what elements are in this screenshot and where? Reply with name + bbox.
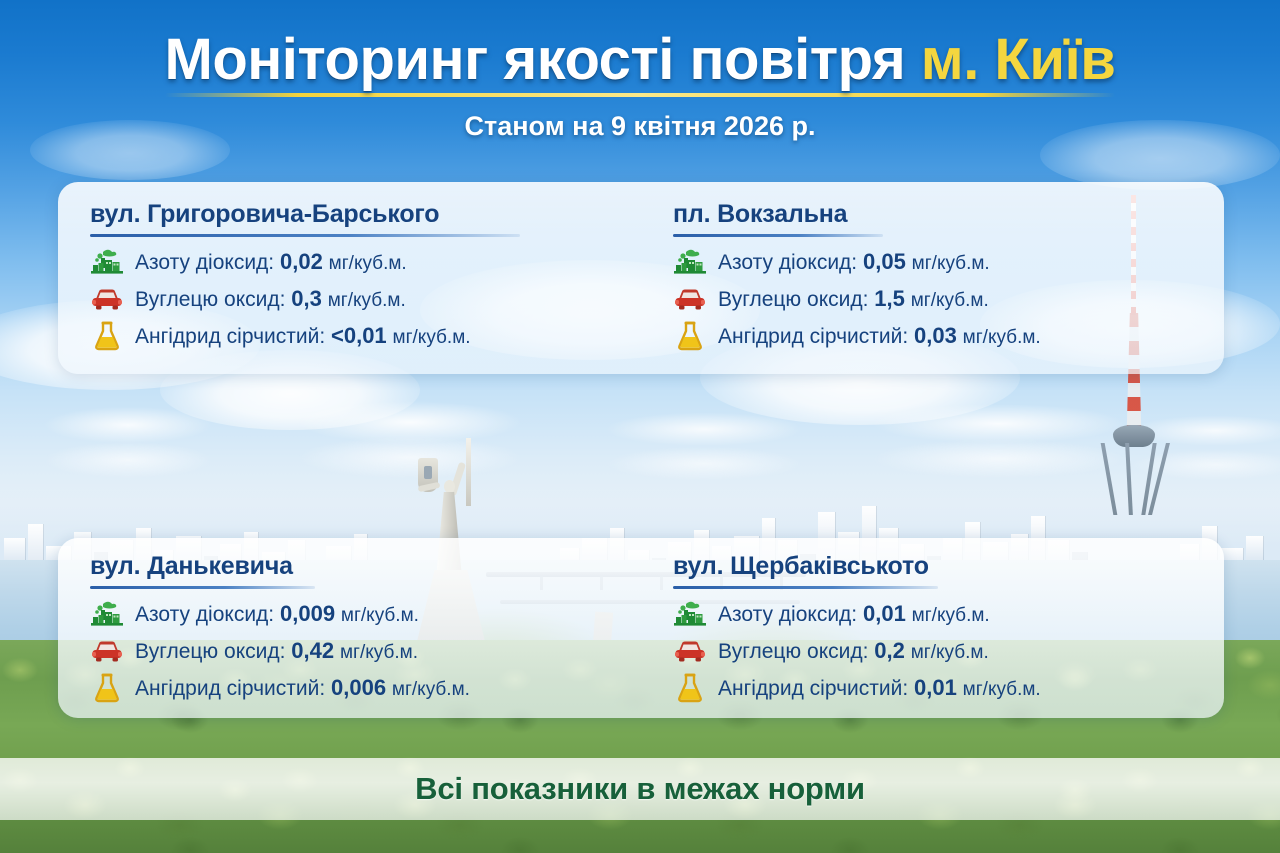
factory-icon — [673, 247, 707, 277]
metric-text: Ангідрид сірчистий: <0,01 мг/куб.м. — [135, 324, 471, 349]
metric-text: Вуглецю оксид: 0,2 мг/куб.м. — [718, 639, 989, 664]
metric-value: 0,02 — [280, 249, 323, 274]
metric-row: Вуглецю оксид: 0,2 мг/куб.м. — [673, 636, 1224, 666]
metric-label: Ангідрид сірчистий: — [718, 677, 908, 700]
station-divider — [673, 234, 883, 237]
metric-text: Вуглецю оксид: 0,3 мг/куб.м. — [135, 287, 406, 312]
poster-header: Моніторинг якості повітря м. Київ Станом… — [0, 0, 1280, 170]
metric-value: 1,5 — [874, 286, 905, 311]
metric-label: Вуглецю оксид: — [718, 640, 868, 663]
metric-value: <0,01 — [331, 323, 387, 348]
metric-row: Азоту діоксид: 0,009 мг/куб.м. — [90, 599, 641, 629]
metric-label: Азоту діоксид: — [718, 603, 857, 626]
factory-icon — [90, 247, 124, 277]
metric-value: 0,006 — [331, 675, 386, 700]
summary-banner: Всі показники в межах норми — [0, 758, 1280, 820]
metric-text: Ангідрид сірчистий: 0,01 мг/куб.м. — [718, 676, 1041, 701]
page-subtitle: Станом на 9 квітня 2026 р. — [0, 111, 1280, 142]
car-icon — [673, 284, 707, 314]
flask-icon — [673, 321, 707, 351]
metric-value: 0,01 — [914, 675, 957, 700]
metric-text: Азоту діоксид: 0,01 мг/куб.м. — [718, 602, 990, 627]
metric-unit: мг/куб.м. — [911, 642, 989, 663]
metric-row: Азоту діоксид: 0,01 мг/куб.м. — [673, 599, 1224, 629]
car-icon — [673, 636, 707, 666]
air-quality-poster: Моніторинг якості повітря м. Київ Станом… — [0, 0, 1280, 853]
metric-row: Ангідрид сірчистий: 0,006 мг/куб.м. — [90, 673, 641, 703]
factory-icon — [673, 599, 707, 629]
metric-unit: мг/куб.м. — [963, 679, 1041, 700]
summary-text: Всі показники в межах норми — [415, 771, 865, 807]
metric-row: Азоту діоксид: 0,05 мг/куб.м. — [673, 247, 1224, 277]
metric-text: Ангідрид сірчистий: 0,03 мг/куб.м. — [718, 324, 1041, 349]
station-divider — [673, 586, 938, 589]
station-card: вул. Щербаківськото — [641, 538, 1224, 718]
metric-unit: мг/куб.м. — [393, 327, 471, 348]
metric-unit: мг/куб.м. — [963, 327, 1041, 348]
metric-unit: мг/куб.м. — [341, 605, 419, 626]
metric-unit: мг/куб.м. — [912, 253, 990, 274]
metric-label: Азоту діоксид: — [718, 251, 857, 274]
metric-row: Ангідрид сірчистий: 0,03 мг/куб.м. — [673, 321, 1224, 351]
flask-icon — [90, 321, 124, 351]
car-icon — [90, 284, 124, 314]
metric-value: 0,05 — [863, 249, 906, 274]
stations-panel-bottom: вул. Данькевича — [58, 538, 1224, 718]
metric-label: Вуглецю оксид: — [135, 288, 285, 311]
metric-row: Вуглецю оксид: 0,42 мг/куб.м. — [90, 636, 641, 666]
metric-value: 0,42 — [291, 638, 334, 663]
metric-label: Азоту діоксид: — [135, 603, 274, 626]
metric-text: Ангідрид сірчистий: 0,006 мг/куб.м. — [135, 676, 470, 701]
metric-unit: мг/куб.м. — [911, 290, 989, 311]
metric-value: 0,03 — [914, 323, 957, 348]
station-card: вул. Григоровича-Барського — [58, 182, 641, 374]
station-divider — [90, 586, 315, 589]
metric-row: Ангідрид сірчистий: <0,01 мг/куб.м. — [90, 321, 641, 351]
metric-row: Вуглецю оксид: 0,3 мг/куб.м. — [90, 284, 641, 314]
metric-label: Вуглецю оксид: — [135, 640, 285, 663]
metric-row: Вуглецю оксид: 1,5 мг/куб.м. — [673, 284, 1224, 314]
metric-text: Азоту діоксид: 0,02 мг/куб.м. — [135, 250, 407, 275]
metric-value: 0,009 — [280, 601, 335, 626]
metric-label: Азоту діоксид: — [135, 251, 274, 274]
factory-icon — [90, 599, 124, 629]
station-divider — [90, 234, 520, 237]
station-name: вул. Щербаківськото — [673, 552, 1224, 581]
metric-value: 0,2 — [874, 638, 905, 663]
metric-text: Вуглецю оксид: 0,42 мг/куб.м. — [135, 639, 418, 664]
station-name: вул. Данькевича — [90, 552, 641, 581]
metric-label: Ангідрид сірчистий: — [718, 325, 908, 348]
metric-row: Ангідрид сірчистий: 0,01 мг/куб.м. — [673, 673, 1224, 703]
car-icon — [90, 636, 124, 666]
station-name: пл. Вокзальна — [673, 200, 1224, 229]
metric-unit: мг/куб.м. — [392, 679, 470, 700]
metric-unit: мг/куб.м. — [328, 290, 406, 311]
metric-label: Ангідрид сірчистий: — [135, 677, 325, 700]
metric-text: Азоту діоксид: 0,009 мг/куб.м. — [135, 602, 419, 627]
stations-panel-top: вул. Григоровича-Барського — [58, 182, 1224, 374]
metric-unit: мг/куб.м. — [329, 253, 407, 274]
metric-text: Вуглецю оксид: 1,5 мг/куб.м. — [718, 287, 989, 312]
metric-value: 0,3 — [291, 286, 322, 311]
flask-icon — [673, 673, 707, 703]
flask-icon — [90, 673, 124, 703]
page-title-accent: м. Київ — [921, 27, 1116, 92]
station-name: вул. Григоровича-Барського — [90, 200, 641, 229]
title-underline — [165, 93, 1115, 97]
station-card: пл. Вокзальна — [641, 182, 1224, 374]
metric-unit: мг/куб.м. — [912, 605, 990, 626]
page-title: Моніторинг якості повітря м. Київ — [0, 30, 1280, 91]
page-title-main: Моніторинг якості повітря — [165, 27, 906, 92]
metric-label: Ангідрид сірчистий: — [135, 325, 325, 348]
metric-unit: мг/куб.м. — [340, 642, 418, 663]
metric-value: 0,01 — [863, 601, 906, 626]
metric-text: Азоту діоксид: 0,05 мг/куб.м. — [718, 250, 990, 275]
metric-row: Азоту діоксид: 0,02 мг/куб.м. — [90, 247, 641, 277]
station-card: вул. Данькевича — [58, 538, 641, 718]
metric-label: Вуглецю оксид: — [718, 288, 868, 311]
